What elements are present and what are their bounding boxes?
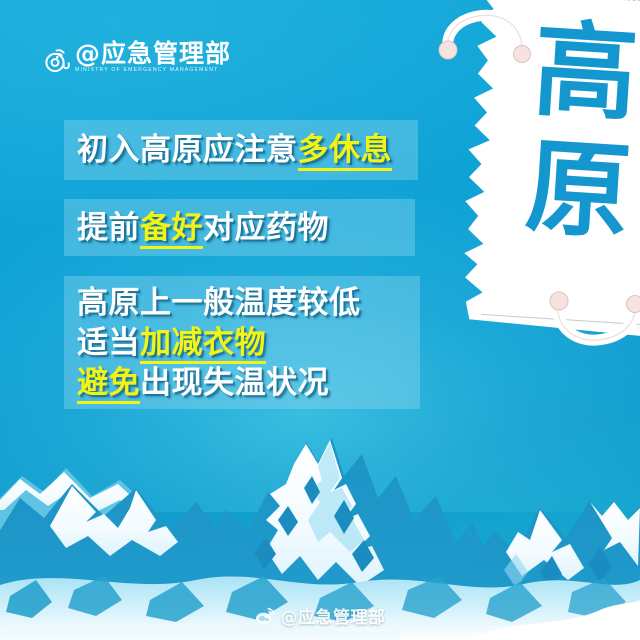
tip-text-plain: 对应药物 <box>203 210 329 246</box>
tip-text-highlight: 避免 <box>77 365 140 404</box>
tip-text-highlight: 多休息 <box>298 132 393 171</box>
logo-english-name: MINISTRY OF EMERGENCY MANAGEMENT <box>75 66 231 74</box>
logo-chinese-name: @应急管理部 <box>75 40 231 67</box>
tip-line: 高原上一般温度较低 <box>64 283 420 323</box>
ministry-logo: @应急管理部 MINISTRY OF EMERGENCY MANAGEMENT <box>44 40 231 75</box>
tip-line: 适当加减衣物 <box>64 323 420 363</box>
tip-text-highlight: 加减衣物 <box>140 325 266 364</box>
poster-root: @应急管理部 MINISTRY OF EMERGENCY MANAGEMENT … <box>0 0 640 640</box>
tips-container: 初入高原应注意多休息 提前备好对应药物 高原上一般温度较低 适当加减衣物 避免出… <box>0 0 640 640</box>
tip-band-rest: 初入高原应注意多休息 <box>64 120 418 180</box>
weibo-watermark: @应急管理部 <box>0 603 640 628</box>
tip-text-plain: 适当 <box>77 325 140 361</box>
at-sign-wifi-icon <box>44 45 70 75</box>
tip-line: 提前备好对应药物 <box>64 207 415 249</box>
tip-band-clothing: 高原上一般温度较低 适当加减衣物 避免出现失温状况 <box>64 276 420 409</box>
tip-line: 初入高原应注意多休息 <box>64 129 418 171</box>
tip-band-medicine: 提前备好对应药物 <box>64 199 415 256</box>
weibo-icon <box>255 607 275 625</box>
tip-text-highlight: 备好 <box>140 210 203 249</box>
tip-text-plain: 高原上一般温度较低 <box>77 285 361 321</box>
tip-text-plain: 提前 <box>77 210 140 246</box>
tip-line: 避免出现失温状况 <box>64 363 420 403</box>
weibo-handle: @应急管理部 <box>281 603 386 628</box>
tip-text-plain: 初入高原应注意 <box>77 132 298 168</box>
tip-text-plain: 出现失温状况 <box>140 365 329 401</box>
